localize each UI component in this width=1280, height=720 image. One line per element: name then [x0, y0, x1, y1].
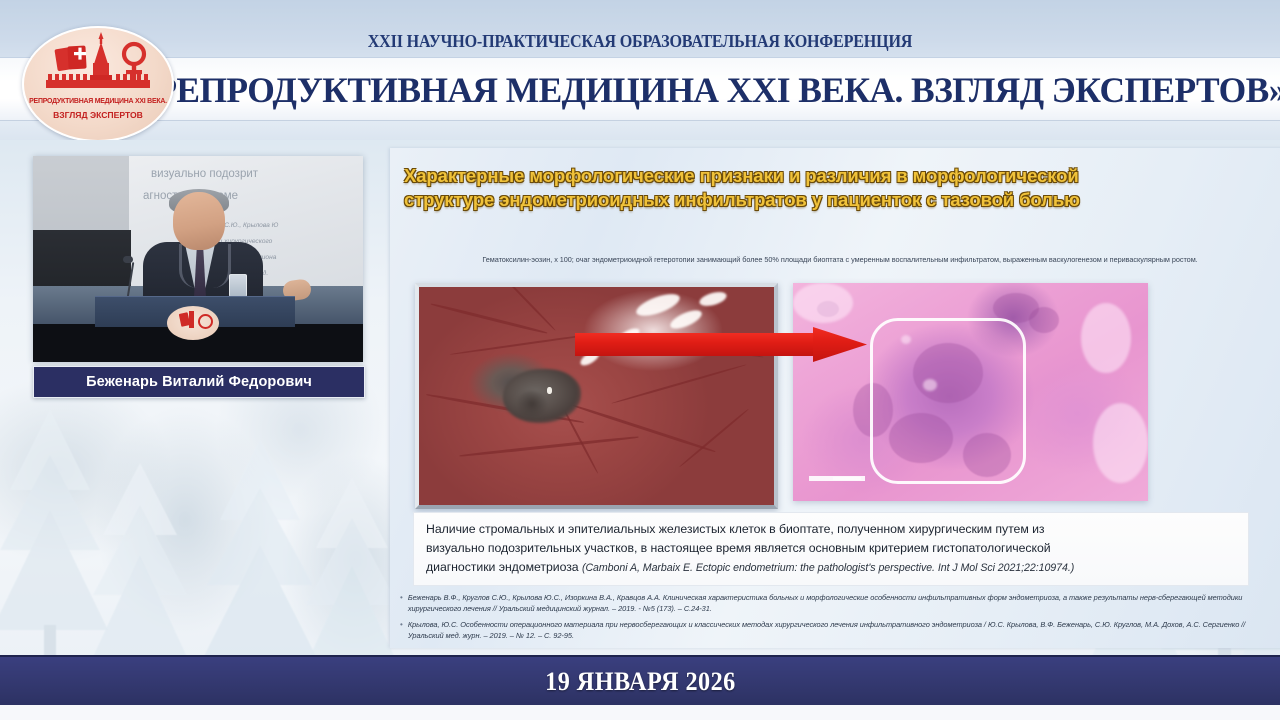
medical-flag-icon: [54, 46, 86, 72]
kremlin-tower-icon: [24, 30, 172, 100]
reference-text: Беженарь В.Ф., Круглов С.Ю., Крылова Ю.С…: [408, 592, 1262, 615]
speaker-figure: [139, 192, 267, 312]
reference-item: • Беженарь В.Ф., Круглов С.Ю., Крылова Ю…: [400, 592, 1262, 615]
podium-logo-tower: [189, 311, 194, 328]
slide-references: • Беженарь В.Ф., Круглов С.Ю., Крылова Ю…: [400, 592, 1262, 645]
speaker-video-panel[interactable]: визуально подозрит агностики эндоме Ф., …: [33, 156, 363, 362]
date-footer: 19 ЯНВАРЯ 2026: [0, 655, 1280, 709]
projected-line-1: визуально подозрит: [151, 168, 258, 180]
water-glass-icon: [229, 274, 247, 298]
slide-title: Характерные морфологические признаки и р…: [404, 164, 1104, 211]
arrow-head: [813, 327, 867, 362]
conference-kicker: XXII НАУЧНО-ПРАКТИЧЕСКАЯ ОБРАЗОВАТЕЛЬНАЯ…: [51, 31, 1229, 52]
red-arrow-annotation: [575, 327, 865, 362]
note-citation: (Camboni A, Marbaix E. Ectopic endometri…: [582, 562, 1074, 574]
note-line-3: диагностики эндометриоза: [426, 560, 582, 574]
endometriotic-lesion-core: [515, 391, 549, 417]
microphone-head-icon: [123, 256, 133, 263]
speaker-name: Беженарь Виталий Федорович: [86, 374, 312, 390]
podium-logo: [167, 306, 219, 340]
note-line-2: визуально подозрительных участков, в нас…: [426, 539, 1236, 558]
presentation-slide: Характерные морфологические признаки и р…: [390, 148, 1280, 648]
bullet-icon: •: [400, 592, 403, 615]
conference-header: XXII НАУЧНО-ПРАКТИЧЕСКАЯ ОБРАЗОВАТЕЛЬНАЯ…: [0, 0, 1280, 140]
slide-caption: Гематоксилин-эозин, х 100; очаг эндометр…: [430, 255, 1250, 266]
laparoscopy-image: [415, 283, 778, 509]
broadcast-stage: XXII НАУЧНО-ПРАКТИЧЕСКАЯ ОБРАЗОВАТЕЛЬНАЯ…: [0, 0, 1280, 720]
footer-bottom-strip: [0, 705, 1280, 720]
speaker-lanyard: [179, 244, 231, 288]
note-line-1: Наличие стромальных и эпителиальных желе…: [426, 520, 1236, 539]
conference-title: «РЕПРОДУКТИВНАЯ МЕДИЦИНА XXI ВЕКА. ВЗГЛЯ…: [158, 66, 1265, 114]
podium-logo-female-symbol-icon: [198, 314, 213, 329]
pale-region: [1093, 403, 1148, 483]
annotation-bracket: [870, 318, 1026, 484]
histology-image: [793, 283, 1148, 501]
arrow-shaft: [575, 333, 817, 356]
speaker-nameplate: Беженарь Виталий Федорович: [33, 366, 365, 398]
tower-shape: [90, 32, 112, 85]
bullet-icon: •: [400, 619, 403, 642]
reference-item: • Крылова, Ю.С. Особенности операционног…: [400, 619, 1262, 642]
lesion-highlight: [547, 387, 552, 394]
speaker-head: [173, 192, 225, 250]
slide-note-box: Наличие стромальных и эпителиальных желе…: [413, 512, 1249, 586]
pale-region: [1081, 303, 1131, 373]
conference-date: 19 ЯНВАРЯ 2026: [545, 667, 736, 697]
scale-bar-tick: [833, 477, 861, 480]
reference-text: Крылова, Ю.С. Особенности операционного …: [408, 619, 1262, 642]
tissue-grain: [1029, 307, 1059, 333]
pale-region: [793, 283, 853, 323]
logo-text-line2: ВЗГЛЯД ЭКСПЕРТОВ: [24, 110, 172, 120]
logo-text-line1: РЕПРОДУКТИВНАЯ МЕДИЦИНА XXI ВЕКА.: [28, 96, 167, 105]
conference-logo: РЕПРОДУКТИВНАЯ МЕДИЦИНА XXI ВЕКА. ВЗГЛЯД…: [22, 26, 174, 140]
